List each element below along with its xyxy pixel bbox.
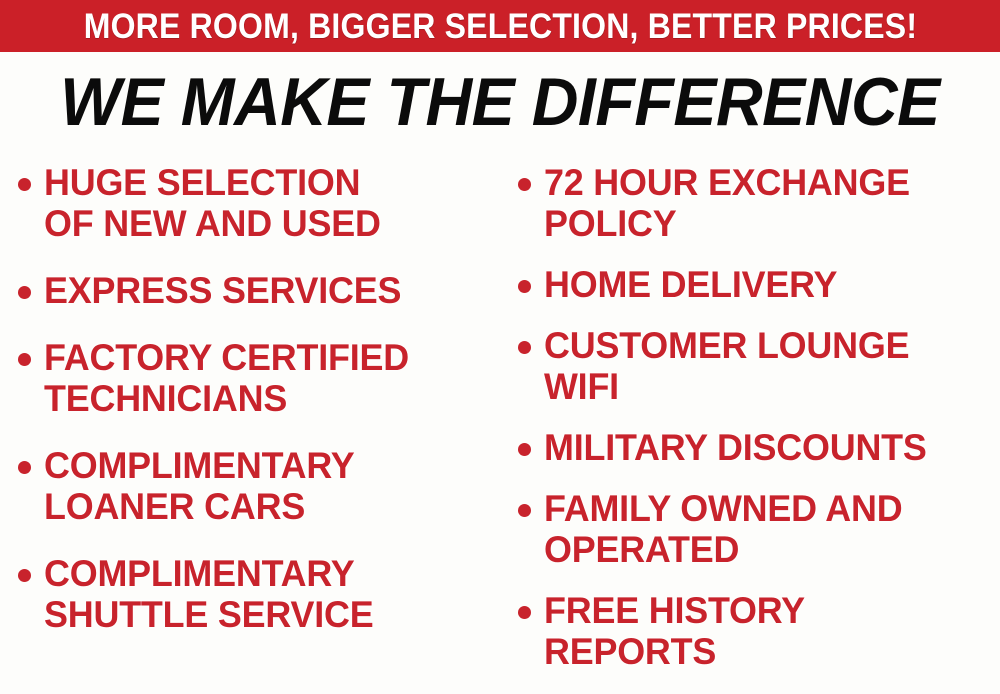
top-banner: MORE ROOM, BIGGER SELECTION, BETTER PRIC… [0,0,1000,52]
bullet-dot-icon [18,353,31,366]
list-item: 72 HOUR EXCHANGE POLICY [518,162,1000,244]
list-item: FAMILY OWNED AND OPERATED [518,488,1000,570]
benefits-column-right: 72 HOUR EXCHANGE POLICY HOME DELIVERY CU… [500,152,1000,694]
list-item: CUSTOMER LOUNGE WIFI [518,325,1000,407]
list-item: FACTORY CERTIFIED TECHNICIANS [18,337,500,419]
list-item: COMPLIMENTARY SHUTTLE SERVICE [18,553,500,635]
list-item-label: FAMILY OWNED AND OPERATED [544,488,986,570]
list-item: HUGE SELECTION OF NEW AND USED [18,162,500,244]
list-item: HOME DELIVERY [518,264,1000,305]
list-item-label: 72 HOUR EXCHANGE POLICY [544,162,986,244]
list-item-label: COMPLIMENTARY SHUTTLE SERVICE [44,553,486,635]
bullet-dot-icon [18,286,31,299]
list-item-label: CUSTOMER LOUNGE WIFI [544,325,986,407]
list-item: EXPRESS SERVICES [18,270,500,311]
list-item-label: FREE HISTORY REPORTS [544,590,986,672]
list-item-label: FACTORY CERTIFIED TECHNICIANS [44,337,486,419]
list-item: FREE HISTORY REPORTS [518,590,1000,672]
benefits-columns: HUGE SELECTION OF NEW AND USED EXPRESS S… [0,152,1000,694]
list-item: MILITARY DISCOUNTS [518,427,1000,468]
bullet-dot-icon [518,178,531,191]
bullet-dot-icon [18,461,31,474]
top-banner-text: MORE ROOM, BIGGER SELECTION, BETTER PRIC… [83,9,916,44]
list-item-label: COMPLIMENTARY LOANER CARS [44,445,486,527]
bullet-dot-icon [518,443,531,456]
benefits-column-left: HUGE SELECTION OF NEW AND USED EXPRESS S… [0,152,500,694]
headline-container: WE MAKE THE DIFFERENCE [0,66,1000,138]
bullet-dot-icon [518,341,531,354]
list-item-label: EXPRESS SERVICES [44,270,486,311]
list-item-label: MILITARY DISCOUNTS [544,427,986,468]
promo-poster: MORE ROOM, BIGGER SELECTION, BETTER PRIC… [0,0,1000,694]
page-title: WE MAKE THE DIFFERENCE [60,68,940,136]
bullet-dot-icon [18,569,31,582]
list-item: COMPLIMENTARY LOANER CARS [18,445,500,527]
bullet-dot-icon [18,178,31,191]
bullet-dot-icon [518,280,531,293]
bullet-dot-icon [518,606,531,619]
bullet-dot-icon [518,504,531,517]
list-item-label: HOME DELIVERY [544,264,986,305]
list-item-label: HUGE SELECTION OF NEW AND USED [44,162,486,244]
